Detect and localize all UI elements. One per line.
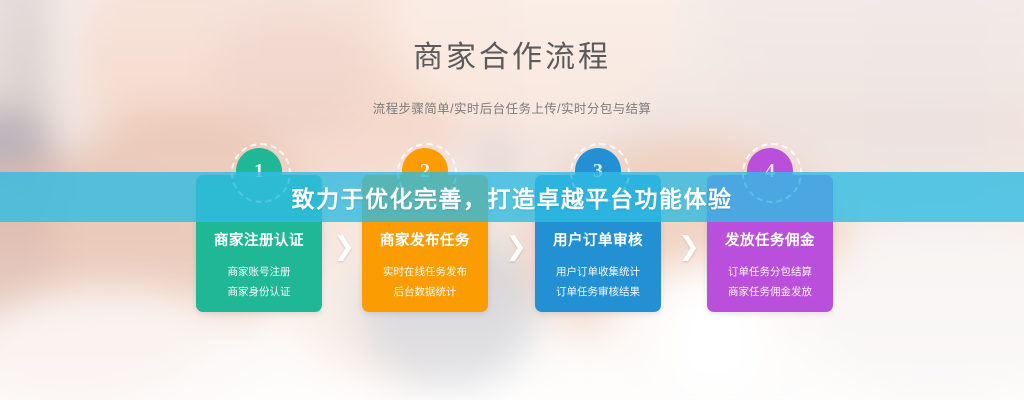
step-detail-4: 订单任务分包结算 商家任务佣金发放 bbox=[707, 262, 833, 302]
overlay-banner-text: 致力于优化完善，打造卓越平台功能体验 bbox=[292, 180, 733, 214]
step-detail-line: 后台数据统计 bbox=[362, 282, 488, 302]
chevron-right-icon: ❯ bbox=[503, 232, 529, 262]
step-detail-line: 实时在线任务发布 bbox=[362, 262, 488, 282]
step-detail-line: 商家身份认证 bbox=[196, 282, 322, 302]
step-detail-2: 实时在线任务发布 后台数据统计 bbox=[362, 262, 488, 302]
step-detail-line: 订单任务审核结果 bbox=[535, 282, 661, 302]
chevron-right-icon: ❯ bbox=[676, 232, 702, 262]
step-detail-line: 用户订单收集统计 bbox=[535, 262, 661, 282]
step-detail-1: 商家账号注册 商家身份认证 bbox=[196, 262, 322, 302]
promo-banner-page: 商家合作流程 流程步骤简单/实时后台任务上传/实时分包与结算 1 商家注册认证 … bbox=[0, 0, 1024, 400]
step-detail-line: 商家任务佣金发放 bbox=[707, 282, 833, 302]
overlay-banner: 致力于优化完善，打造卓越平台功能体验 bbox=[0, 172, 1024, 222]
step-detail-line: 商家账号注册 bbox=[196, 262, 322, 282]
chevron-right-icon: ❯ bbox=[331, 232, 357, 262]
step-detail-3: 用户订单收集统计 订单任务审核结果 bbox=[535, 262, 661, 302]
step-detail-line: 订单任务分包结算 bbox=[707, 262, 833, 282]
